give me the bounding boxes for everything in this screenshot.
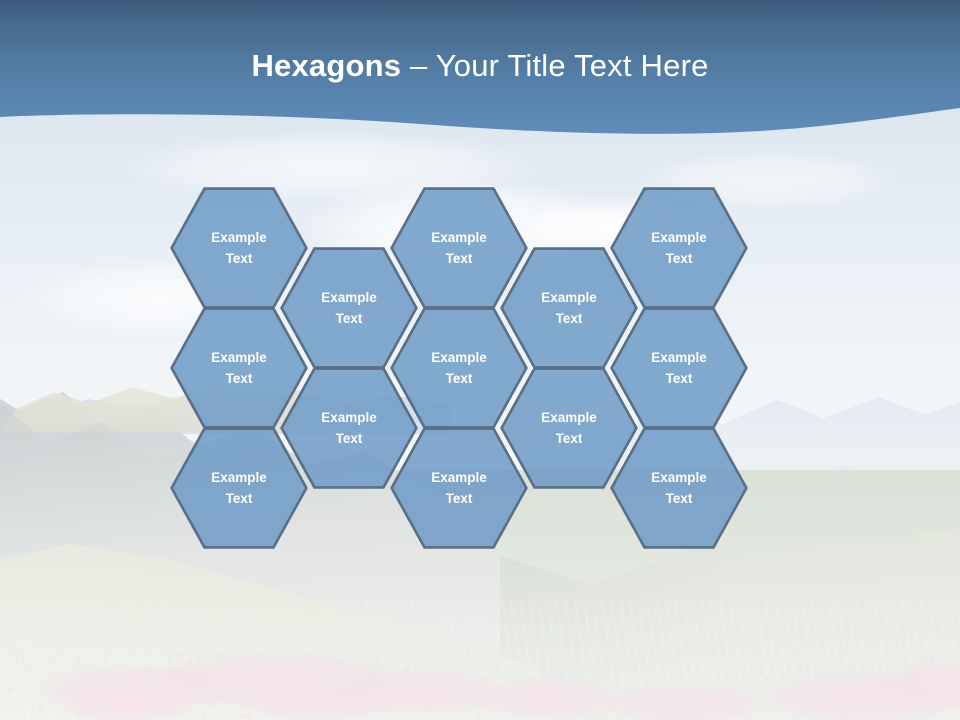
slide-canvas: Hexagons – Your Title Text Here ExampleT… [0,0,960,720]
hexagon-shape [610,187,748,309]
hexagon-diagram: ExampleTextExampleTextExampleTextExample… [0,0,960,720]
hexagon-hex-c5-r1[interactable]: ExampleText [610,187,748,309]
hexagon-shape [610,307,748,429]
hexagon-hex-c5-r3[interactable]: ExampleText [610,427,748,549]
hexagon-shape [610,427,748,549]
hexagon-hex-c5-r2[interactable]: ExampleText [610,307,748,429]
